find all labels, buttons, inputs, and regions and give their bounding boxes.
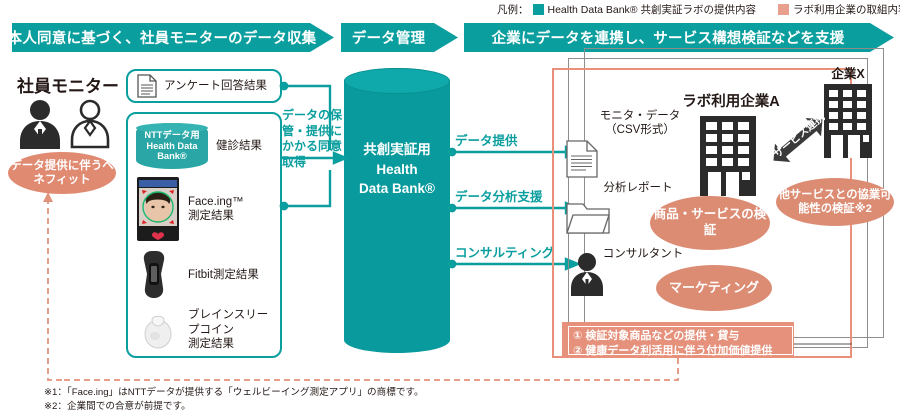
footnote-1: ※1：「Face.ing」はNTTデータが提供する「ウェルビーイング測定アプリ」… <box>44 386 564 400</box>
footnotes: ※1：「Face.ing」はNTTデータが提供する「ウェルビーイング測定アプリ」… <box>44 386 564 414</box>
notes-connector <box>0 0 900 415</box>
ntt-cylinder-label: NTTデータ用 Health Data Bank® <box>144 130 199 161</box>
footnote-2: ※2：企業間での合意が前提です。 <box>44 400 564 414</box>
